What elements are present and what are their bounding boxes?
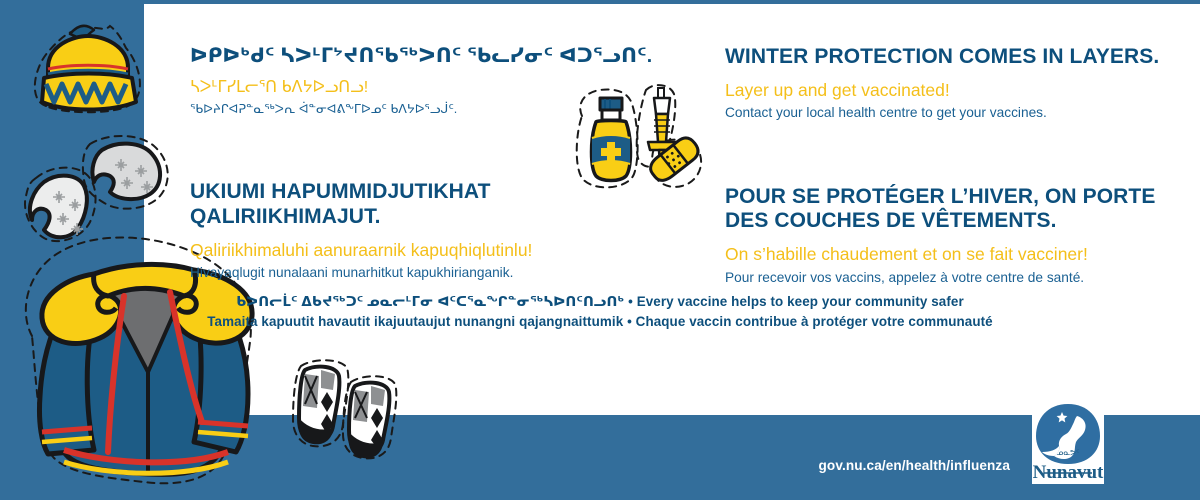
english-block: WINTER PROTECTION COMES IN LAYERS. Layer… [725, 45, 1180, 123]
poster-canvas: ᐅᑭᐅᒃᑯᑦ ᓴᐳᒻᒥᔾᔪᑎᖃᖅᐳᑎᑦ ᖃᓚᓯᓂᑦ ᐊᑐᕐᓗᑎᑦ. ᓴᐳᒻᒥᓯᒪ… [0, 0, 1200, 500]
inuinnaqtun-heading-line1: UKIUMI HAPUMMIDJUTIKHAT [190, 180, 491, 203]
inuinnaqtun-heading-line2: QALIRIIKHIMAJUT. [190, 205, 381, 228]
website-url[interactable]: gov.nu.ca/en/health/influenza [819, 458, 1010, 473]
inuinnaqtun-body: Hivayaqlugit nunalaani munarhitkut kapuk… [190, 264, 670, 282]
english-heading: WINTER PROTECTION COMES IN LAYERS. [725, 45, 1180, 70]
inuktitut-heading: ᐅᑭᐅᒃᑯᑦ ᓴᐳᒻᒥᔾᔪᑎᖃᖅᐳᑎᑦ ᖃᓚᓯᓂᑦ ᐊᑐᕐᓗᑎᑦ. [190, 45, 670, 69]
english-body: Contact your local health centre to get … [725, 104, 1180, 122]
french-body: Pour recevoir vos vaccins, appelez à vot… [725, 269, 1180, 287]
tagline: ᑲᐳᑎᓕᒫᑦ ᐃᑲᔪᖅᑐᑦ ᓄᓇᓕᒻᒥᓂ ᐊᑦᑕᕐᓇᖏᓐᓂᖅᓴᐅᑎᑦᑎᓗᑎᒃ •… [0, 292, 1200, 332]
wool-mittens-illustration [14, 126, 184, 241]
nunavut-government-logo: ᓄᓇᕗᑦ Nunavut [1032, 402, 1104, 484]
right-text-column: WINTER PROTECTION COMES IN LAYERS. Layer… [725, 45, 1180, 287]
inuktitut-body: ᖃᐅᔨᒋᐊᕈᓐᓇᖅᐳᕆ ᐋᓐᓂᐊᕕᖕᒥᐅᓄᑦ ᑲᐱᔭᐅᕐᓗᒎᑦ. [190, 101, 670, 118]
left-text-column: ᐅᑭᐅᒃᑯᑦ ᓴᐳᒻᒥᔾᔪᑎᖃᖅᐳᑎᑦ ᖃᓚᓯᓂᑦ ᐊᑐᕐᓗᑎᑦ. ᓴᐳᒻᒥᓯᒪ… [190, 45, 670, 283]
french-heading-line2: DES COUCHES DE VÊTEMENTS. [725, 209, 1057, 232]
english-subhead: Layer up and get vaccinated! [725, 79, 1180, 101]
french-subhead: On s’habille chaudement et on se fait va… [725, 243, 1180, 265]
inuinnaqtun-heading: UKIUMI HAPUMMIDJUTIKHAT QALIRIIKHIMAJUT. [190, 180, 670, 230]
inuktitut-block: ᐅᑭᐅᒃᑯᑦ ᓴᐳᒻᒥᔾᔪᑎᖃᖅᐳᑎᑦ ᖃᓚᓯᓂᑦ ᐊᑐᕐᓗᑎᑦ. ᓴᐳᒻᒥᓯᒪ… [190, 45, 670, 118]
inuktitut-subhead: ᓴᐳᒻᒥᓯᒪᓕᕐᑎ ᑲᐱᔭᐅᓗᑎᓗ! [190, 78, 670, 98]
inuinnaqtun-block: UKIUMI HAPUMMIDJUTIKHAT QALIRIIKHIMAJUT.… [190, 180, 670, 282]
french-heading: POUR SE PROTÉGER L’HIVER, ON PORTE DES C… [725, 185, 1180, 235]
french-block: POUR SE PROTÉGER L’HIVER, ON PORTE DES C… [725, 185, 1180, 287]
tagline-line-1: ᑲᐳᑎᓕᒫᑦ ᐃᑲᔪᖅᑐᑦ ᓄᓇᓕᒻᒥᓂ ᐊᑦᑕᕐᓇᖏᓐᓂᖅᓴᐅᑎᑦᑎᓗᑎᒃ •… [0, 292, 1200, 312]
french-heading-line1: POUR SE PROTÉGER L’HIVER, ON PORTE [725, 185, 1155, 208]
logo-syllabics: ᓄᓇᕗᑦ [1057, 448, 1080, 457]
knitted-winter-hat-illustration [18, 18, 158, 128]
tagline-line-2: Tamaita kapuutit havautit ikajuutaujut n… [0, 312, 1200, 332]
inuinnaqtun-subhead: Qaliriikhimaluhi aanuraarnik kapuqhiqlut… [190, 239, 670, 261]
winter-boots-illustration [285, 348, 405, 473]
